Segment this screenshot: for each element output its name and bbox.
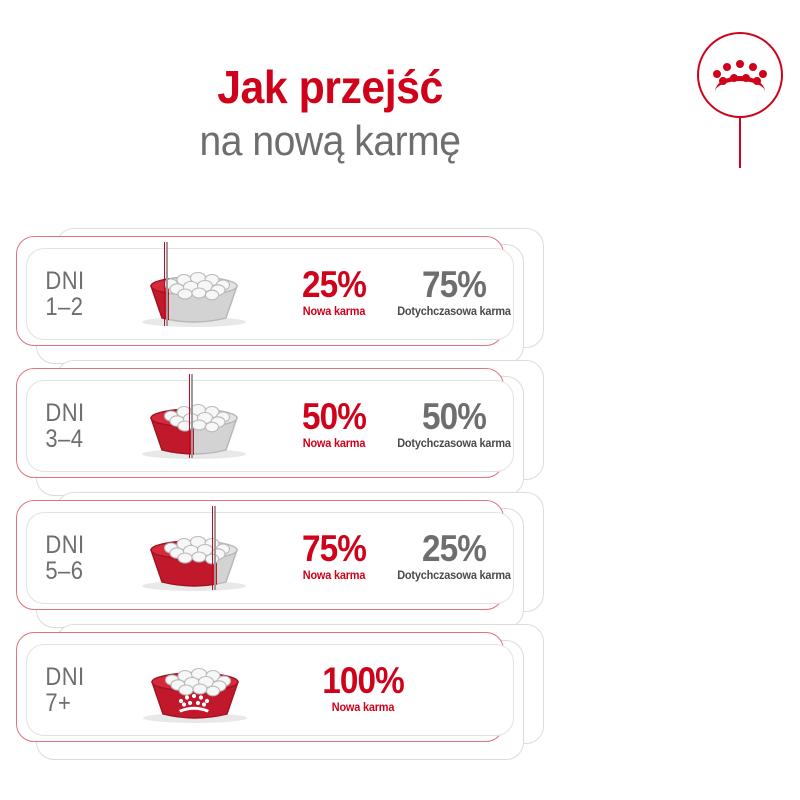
days-range-4: 7+ [45, 690, 110, 717]
new-food-block-4: 100% Nowa karma [278, 662, 448, 717]
percentages-4: 100% Nowa karma [272, 662, 514, 717]
old-food-pct-3: 25% [400, 530, 508, 567]
step-row-2: DNI 3–4 [26, 380, 514, 472]
new-food-label-3: Nowa karma [277, 567, 391, 585]
infographic-page: Jak przejść na nową karmę DNI 1–2 [0, 0, 800, 800]
transition-steps-list: DNI 1–2 [0, 228, 660, 768]
old-food-block-1: 75% Dotychczasowa karma [394, 266, 514, 321]
step-card-4: DNI 7+ [0, 624, 560, 760]
new-food-pct-1: 25% [280, 266, 388, 303]
royal-canin-logo [690, 32, 790, 167]
dog-bowl-split-icon-2 [129, 392, 259, 462]
step-card-3: DNI 5–6 [0, 492, 560, 628]
new-food-pct-3: 75% [280, 530, 388, 567]
old-food-label-2: Dotychczasowa karma [397, 435, 511, 453]
new-food-pct-4: 100% [287, 662, 440, 699]
new-food-block-1: 25% Nowa karma [274, 266, 394, 321]
new-food-block-2: 50% Nowa karma [274, 398, 394, 453]
new-food-label-1: Nowa karma [277, 303, 391, 321]
old-food-block-3: 25% Dotychczasowa karma [394, 530, 514, 585]
old-food-block-2: 50% Dotychczasowa karma [394, 398, 514, 453]
percentages-1: 25% Nowa karma 75% Dotychczasowa karma [268, 266, 514, 321]
logo-circle [697, 32, 783, 118]
crown-icon [713, 58, 767, 92]
bowl-divider-1 [164, 242, 168, 326]
days-range-2: 3–4 [45, 426, 109, 453]
percentages-2: 50% Nowa karma 50% Dotychczasowa karma [268, 398, 514, 453]
days-label-2: DNI 3–4 [26, 400, 109, 453]
old-food-pct-2: 50% [400, 398, 508, 435]
old-food-label-1: Dotychczasowa karma [397, 303, 511, 321]
bowl-illustration-2 [121, 380, 268, 472]
new-food-label-2: Nowa karma [277, 435, 391, 453]
old-food-label-3: Dotychczasowa karma [397, 567, 511, 585]
dog-bowl-split-icon-3 [129, 524, 259, 594]
dog-bowl-split-icon-1 [129, 260, 259, 330]
days-label-4: DNI 7+ [26, 664, 110, 717]
days-label-1: DNI 1–2 [26, 268, 109, 321]
days-range-1: 1–2 [45, 294, 109, 321]
new-food-label-4: Nowa karma [282, 699, 444, 717]
days-word-4: DNI [45, 664, 110, 691]
days-word-3: DNI [45, 532, 109, 559]
days-word-1: DNI [45, 268, 109, 295]
step-row-3: DNI 5–6 [26, 512, 514, 604]
step-card-1: DNI 1–2 [0, 228, 560, 364]
days-range-3: 5–6 [45, 558, 109, 585]
page-title-line2: na nową karmę [23, 114, 637, 169]
bowl-divider-3 [212, 506, 216, 590]
step-card-2: DNI 3–4 [0, 360, 560, 496]
step-row-1: DNI 1–2 [26, 248, 514, 340]
new-food-block-3: 75% Nowa karma [274, 530, 394, 585]
bowl-illustration-4 [122, 644, 272, 736]
step-row-4: DNI 7+ [26, 644, 514, 736]
days-word-2: DNI [45, 400, 109, 427]
new-food-pct-2: 50% [280, 398, 388, 435]
bowl-illustration-3 [121, 512, 268, 604]
days-label-3: DNI 5–6 [26, 532, 109, 585]
dog-bowl-full-red-crown-icon [130, 656, 260, 726]
old-food-pct-1: 75% [400, 266, 508, 303]
bowl-illustration-1 [121, 248, 268, 340]
bowl-divider-2 [189, 374, 193, 458]
page-title: Jak przejść na nową karmę [0, 62, 660, 168]
percentages-3: 75% Nowa karma 25% Dotychczasowa karma [268, 530, 514, 585]
page-title-line1: Jak przejść [23, 62, 637, 114]
